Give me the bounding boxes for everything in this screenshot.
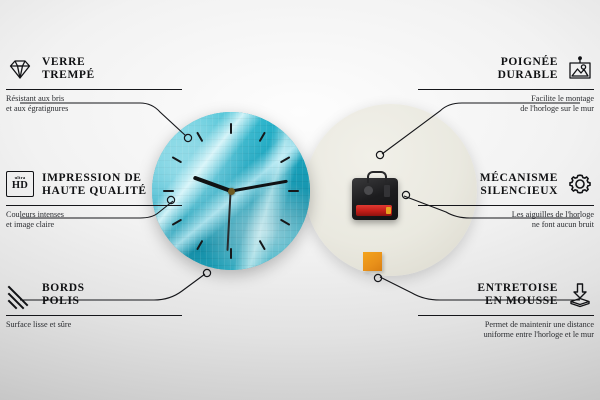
callout-title-line2: DURABLE bbox=[498, 69, 558, 82]
polished-edges-icon bbox=[6, 283, 34, 307]
callout-title-line2: EN MOUSSE bbox=[477, 295, 558, 308]
diamond-icon bbox=[6, 55, 34, 83]
callout-title-line1: IMPRESSION DE bbox=[42, 172, 147, 185]
mechanism-shaft bbox=[364, 186, 373, 195]
callout-divider bbox=[6, 315, 182, 316]
callout-desc-line1: Facilite le montage bbox=[418, 94, 594, 104]
callout-title-line1: ENTRETOISE bbox=[477, 282, 558, 295]
callout-poignee-durable: POIGNÉE DURABLE Facilite le montage de l… bbox=[418, 52, 594, 114]
callout-title-line1: BORDS bbox=[42, 282, 85, 295]
callout-desc-line2: de l'horloge sur le mur bbox=[418, 104, 594, 114]
callout-title-line2: POLIS bbox=[42, 295, 85, 308]
gear-icon bbox=[566, 171, 594, 199]
foam-spacer-pad bbox=[363, 252, 382, 271]
ultra-hd-icon: ultra HD bbox=[6, 171, 34, 199]
callout-desc-line2: ne font aucun bruit bbox=[418, 220, 594, 230]
callout-desc-line2: et aux égratignures bbox=[6, 104, 182, 114]
picture-hanger-icon bbox=[566, 55, 594, 83]
callout-desc-line2: et image claire bbox=[6, 220, 182, 230]
callout-mecanisme-silencieux: MÉCANISME SILENCIEUX Les aiguilles de l'… bbox=[418, 168, 594, 230]
callout-title-line1: VERRE bbox=[42, 56, 95, 69]
callout-entretoise-en-mousse: ENTRETOISE EN MOUSSE Permet de maintenir… bbox=[418, 278, 594, 340]
callout-title-line1: POIGNÉE bbox=[498, 56, 558, 69]
callout-bords-polis: BORDS POLIS Surface lisse et sûre bbox=[6, 278, 182, 330]
mechanism-hanger bbox=[367, 171, 387, 183]
callout-desc-line1: Résistant aux bris bbox=[6, 94, 182, 104]
clock-mechanism bbox=[352, 178, 398, 220]
callout-verre-trempe: VERRE TREMPÉ Résistant aux bris et aux é… bbox=[6, 52, 182, 114]
callout-desc-line1: Permet de maintenir une distance bbox=[418, 320, 594, 330]
mechanism-detail bbox=[384, 185, 390, 197]
callout-desc-line1: Surface lisse et sûre bbox=[6, 320, 182, 330]
callout-title-line2: SILENCIEUX bbox=[480, 185, 558, 198]
callout-desc-line1: Les aiguilles de l'horloge bbox=[418, 210, 594, 220]
callout-divider bbox=[6, 89, 182, 90]
callout-impression-haute-qualite: ultra HD IMPRESSION DE HAUTE QUALITÉ Cou… bbox=[6, 168, 182, 230]
callout-desc-line2: uniforme entre l'horloge et le mur bbox=[418, 330, 594, 340]
callout-title-line2: TREMPÉ bbox=[42, 69, 95, 82]
callout-divider bbox=[6, 205, 182, 206]
callout-divider bbox=[418, 89, 594, 90]
clock-tick bbox=[288, 190, 299, 192]
foam-spacer-icon bbox=[566, 281, 594, 309]
callout-desc-line1: Couleurs intenses bbox=[6, 210, 182, 220]
hands-center-cap bbox=[228, 188, 235, 195]
callout-title-line2: HAUTE QUALITÉ bbox=[42, 185, 147, 198]
callout-divider bbox=[418, 205, 594, 206]
clock-tick bbox=[230, 123, 232, 134]
ultra-hd-icon-large-text: HD bbox=[12, 181, 28, 192]
battery bbox=[356, 205, 392, 216]
callout-divider bbox=[418, 315, 594, 316]
product-infographic: VERRE TREMPÉ Résistant aux bris et aux é… bbox=[0, 0, 600, 400]
clock-tick bbox=[230, 248, 232, 259]
callout-title-line1: MÉCANISME bbox=[480, 172, 558, 185]
